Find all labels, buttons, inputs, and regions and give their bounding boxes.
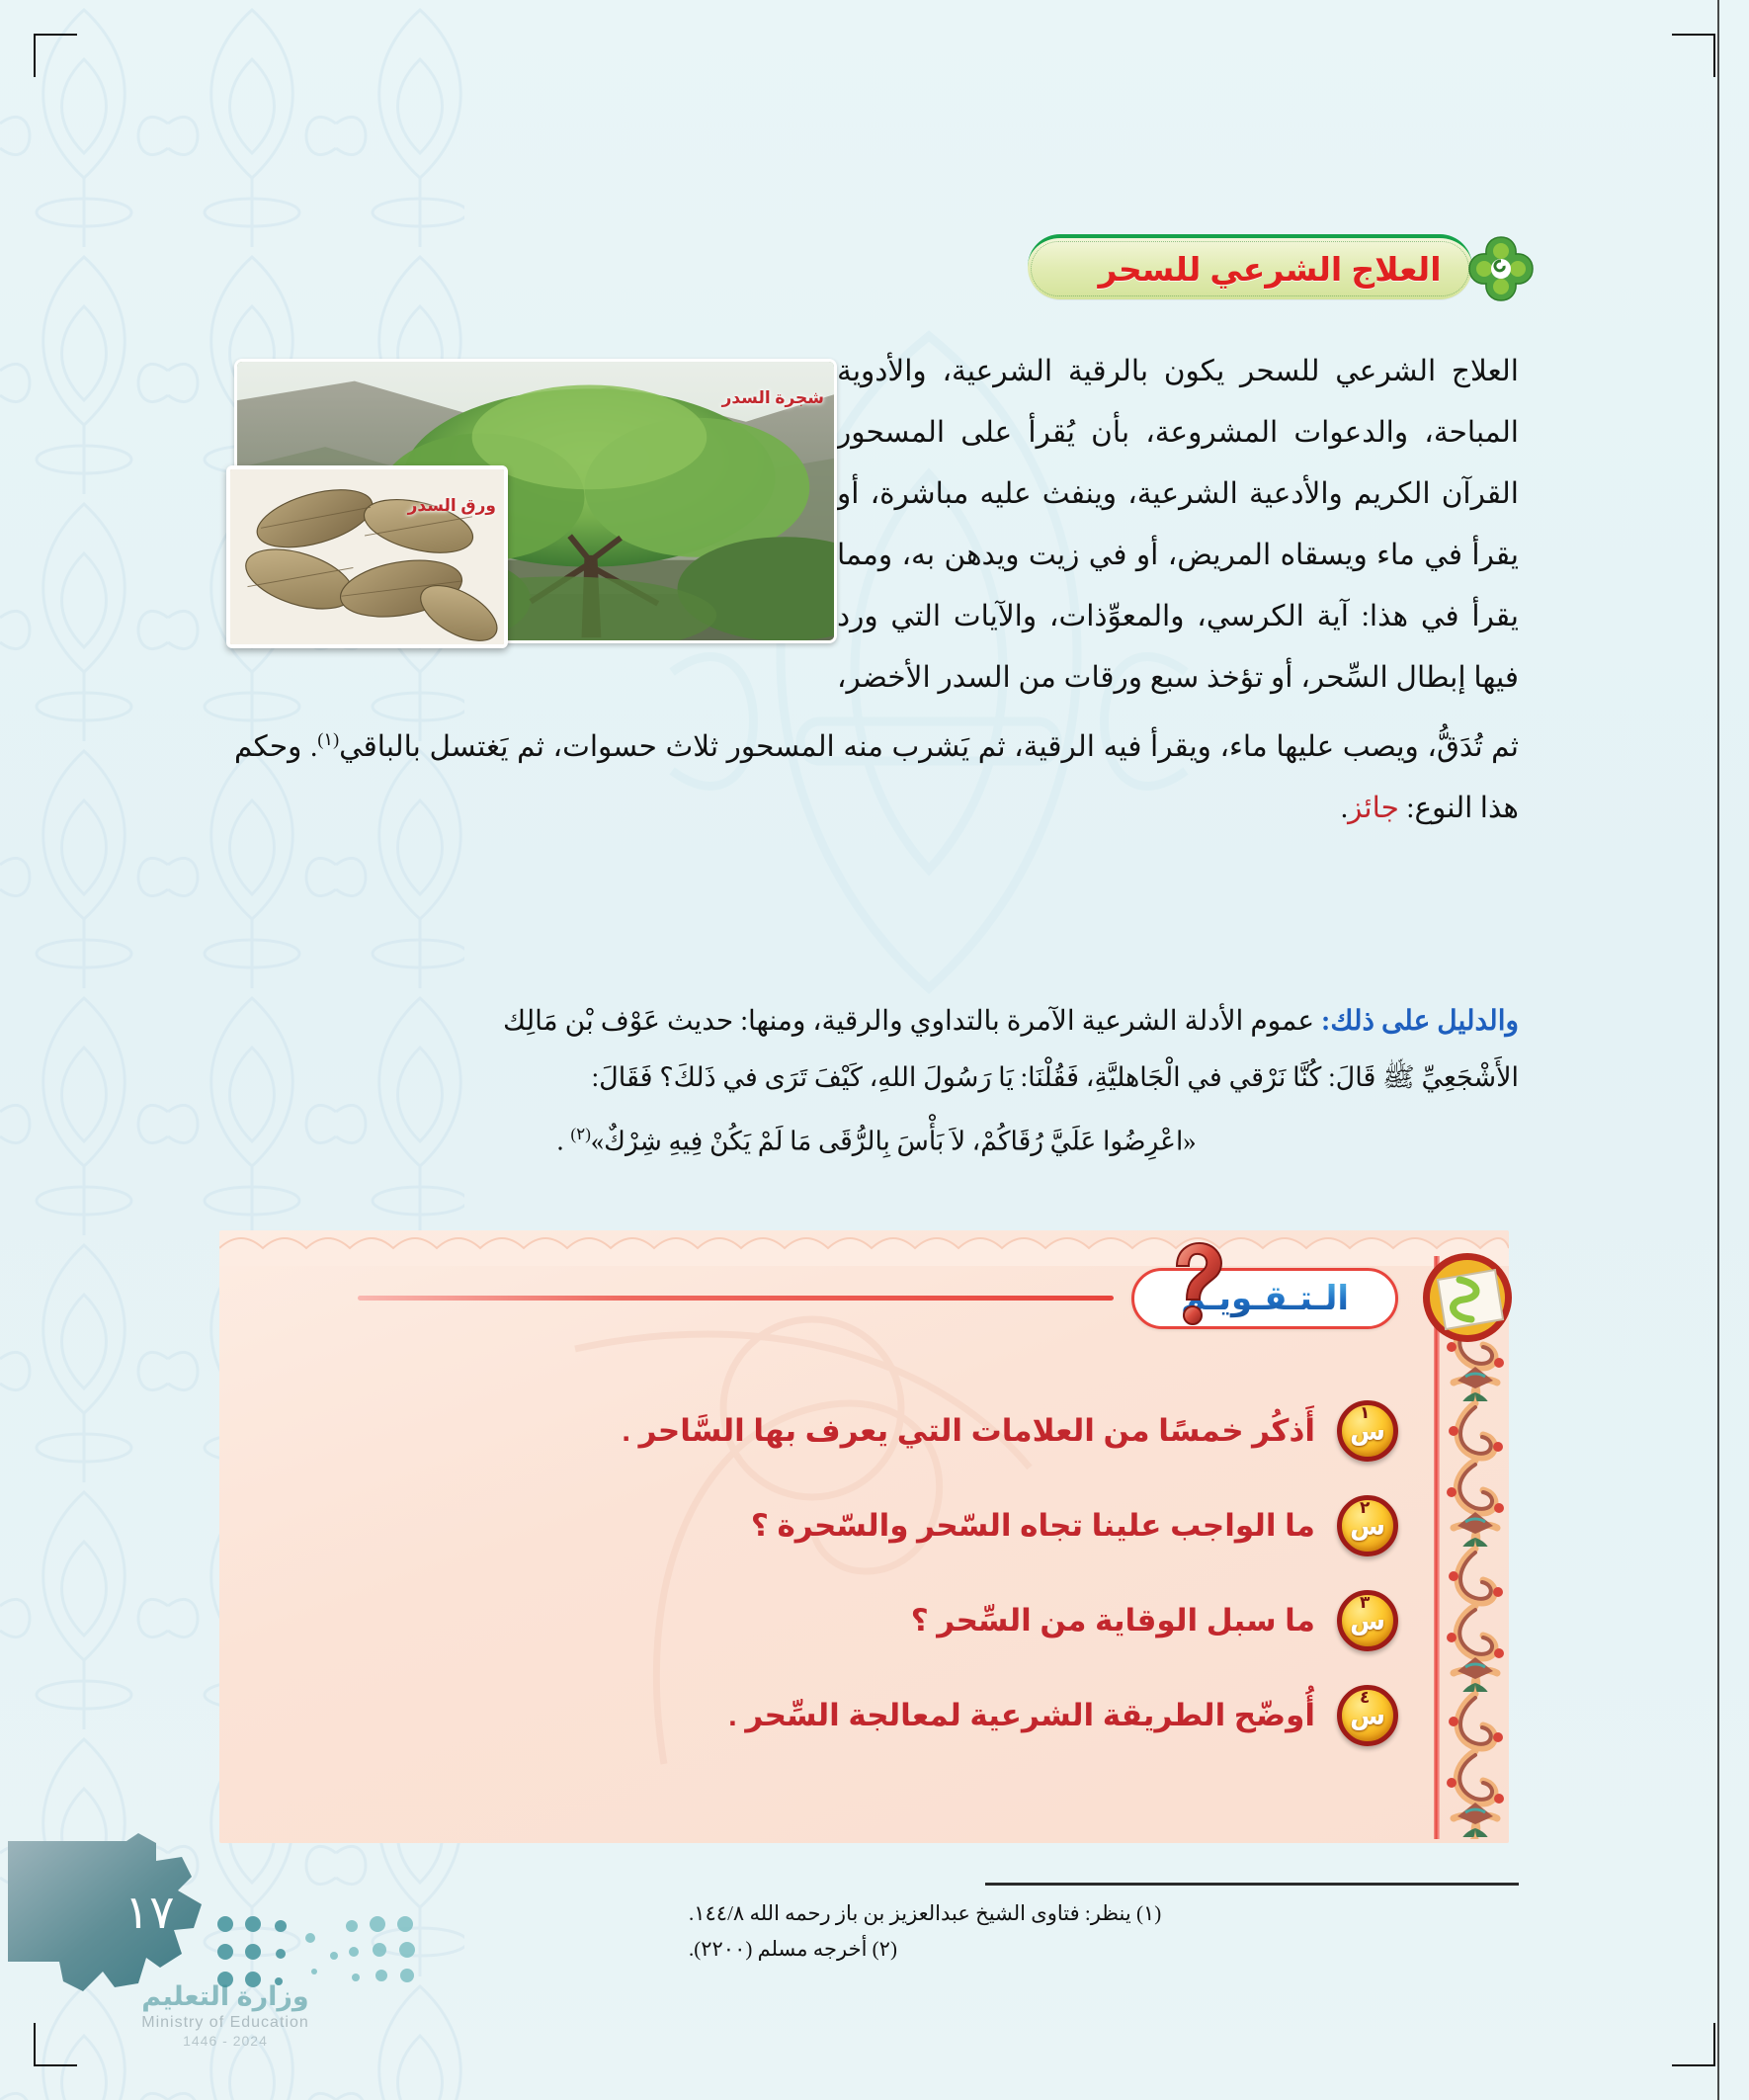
page-title: العلاج الشرعي للسحر (1099, 250, 1442, 289)
question-badge-2: س ٢ (1337, 1495, 1398, 1556)
textbook-page: العلاج الشرعي للسحر (0, 0, 1749, 2100)
question-list: س ١ أَذكُر خمسًا من العلامات التي يعرف ب… (361, 1384, 1398, 1763)
main-body-text: شجرة السدر (234, 341, 1519, 839)
footnote-1: (١) ينظر: فتاوى الشيخ عبدالعزيز بن باز ر… (689, 1895, 1519, 1931)
evidence-line2: الأَشْجَعِيِّ ﷺ قَالَ: كُنَّا نَرْقي في … (234, 1050, 1519, 1106)
evidence-line1: عموم الأدلة الشرعية الآمرة بالتداوي والر… (503, 1006, 1321, 1037)
footnote-marker-1: (١) (317, 729, 339, 749)
crop-mark (34, 34, 36, 77)
ministry-name-ar: وزارة التعليم (97, 1981, 354, 2012)
page-number-shape (8, 1833, 235, 2006)
scroll-paper-icon (1420, 1250, 1515, 1345)
footnote-separator (985, 1883, 1519, 1886)
evidence-paragraph: والدليل على ذلك: عموم الأدلة الشرعية الآ… (234, 993, 1519, 1169)
question-mark-icon (1165, 1238, 1230, 1327)
crop-mark (34, 34, 77, 36)
page-footer: ١٧ وزارة التعليم Ministry of Education (67, 1833, 364, 2051)
question-row[interactable]: س ٢ ما الواجب علينا تجاه السّحر والسّحرة… (361, 1478, 1398, 1573)
footnote-marker-2: (٢) (570, 1125, 590, 1143)
evaluation-panel: الـتـقـويـم (219, 1230, 1509, 1843)
ministry-logo: وزارة التعليم Ministry of Education 2024… (97, 1981, 354, 2049)
question-row[interactable]: س ٣ ما سبل الوقاية من السِّحر ؟ (361, 1573, 1398, 1668)
question-text-1: أَذكُر خمسًا من العلامات التي يعرف بها ا… (622, 1413, 1315, 1449)
crop-mark (1713, 2023, 1715, 2066)
banner-pill: العلاج الشرعي للسحر (1028, 234, 1472, 299)
evidence-line3-tail: . (556, 1126, 570, 1156)
section-header-banner: العلاج الشرعي للسحر (1028, 229, 1522, 304)
question-badge-number: ٢ (1360, 1498, 1370, 1518)
evidence-quote: «اعْرِضُوا عَلَيَّ رُقَاكُمْ، لاَ بَأْسَ… (591, 1126, 1197, 1155)
ministry-name-en: Ministry of Education (97, 2014, 354, 2032)
question-text-4: أُوضّح الطريقة الشرعية لمعالجة السِّحر . (728, 1698, 1315, 1733)
crop-mark (34, 2064, 77, 2066)
evidence-lead: والدليل على ذلك: (1321, 1006, 1519, 1037)
ruling-word: جائز (1348, 793, 1399, 824)
crop-mark (1672, 2064, 1715, 2066)
page-edge-rule (1717, 0, 1719, 2100)
question-badge-number: ٣ (1360, 1593, 1370, 1613)
crop-mark (1672, 34, 1715, 36)
question-badge-number: ٤ (1360, 1688, 1370, 1708)
crop-mark (34, 2023, 36, 2066)
question-row[interactable]: س ٤ أُوضّح الطريقة الشرعية لمعالجة السِّ… (361, 1668, 1398, 1763)
question-badge-1: س ١ (1337, 1400, 1398, 1462)
question-row[interactable]: س ١ أَذكُر خمسًا من العلامات التي يعرف ب… (361, 1384, 1398, 1478)
question-text-3: ما سبل الوقاية من السِّحر ؟ (911, 1603, 1315, 1638)
question-badge-number: ١ (1360, 1403, 1370, 1423)
page-number: ١٧ (125, 1885, 175, 1940)
sidr-leaves-caption: ورق السدر (408, 475, 496, 537)
torn-edge-decoration (219, 1228, 1509, 1266)
crop-mark (1713, 34, 1715, 77)
footnotes: (١) ينظر: فتاوى الشيخ عبدالعزيز بن باز ر… (689, 1883, 1519, 1967)
question-badge-4: س ٤ (1337, 1685, 1398, 1746)
sidr-leaves-photo: ورق السدر (226, 465, 508, 648)
footnote-2: (٢) أخرجه مسلم (٢٢٠٠). (689, 1931, 1519, 1967)
sidr-tree-caption: شجرة السدر (722, 368, 824, 429)
question-text-2: ما الواجب علينا تجاه السّحر والسّحرة ؟ (751, 1508, 1315, 1544)
photo-block: شجرة السدر (234, 359, 837, 655)
floral-ornament-icon (1464, 231, 1538, 304)
evaluation-title-rule (358, 1296, 1114, 1301)
question-badge-3: س ٣ (1337, 1590, 1398, 1651)
ministry-year: 2024 - 1446 (97, 2033, 354, 2049)
